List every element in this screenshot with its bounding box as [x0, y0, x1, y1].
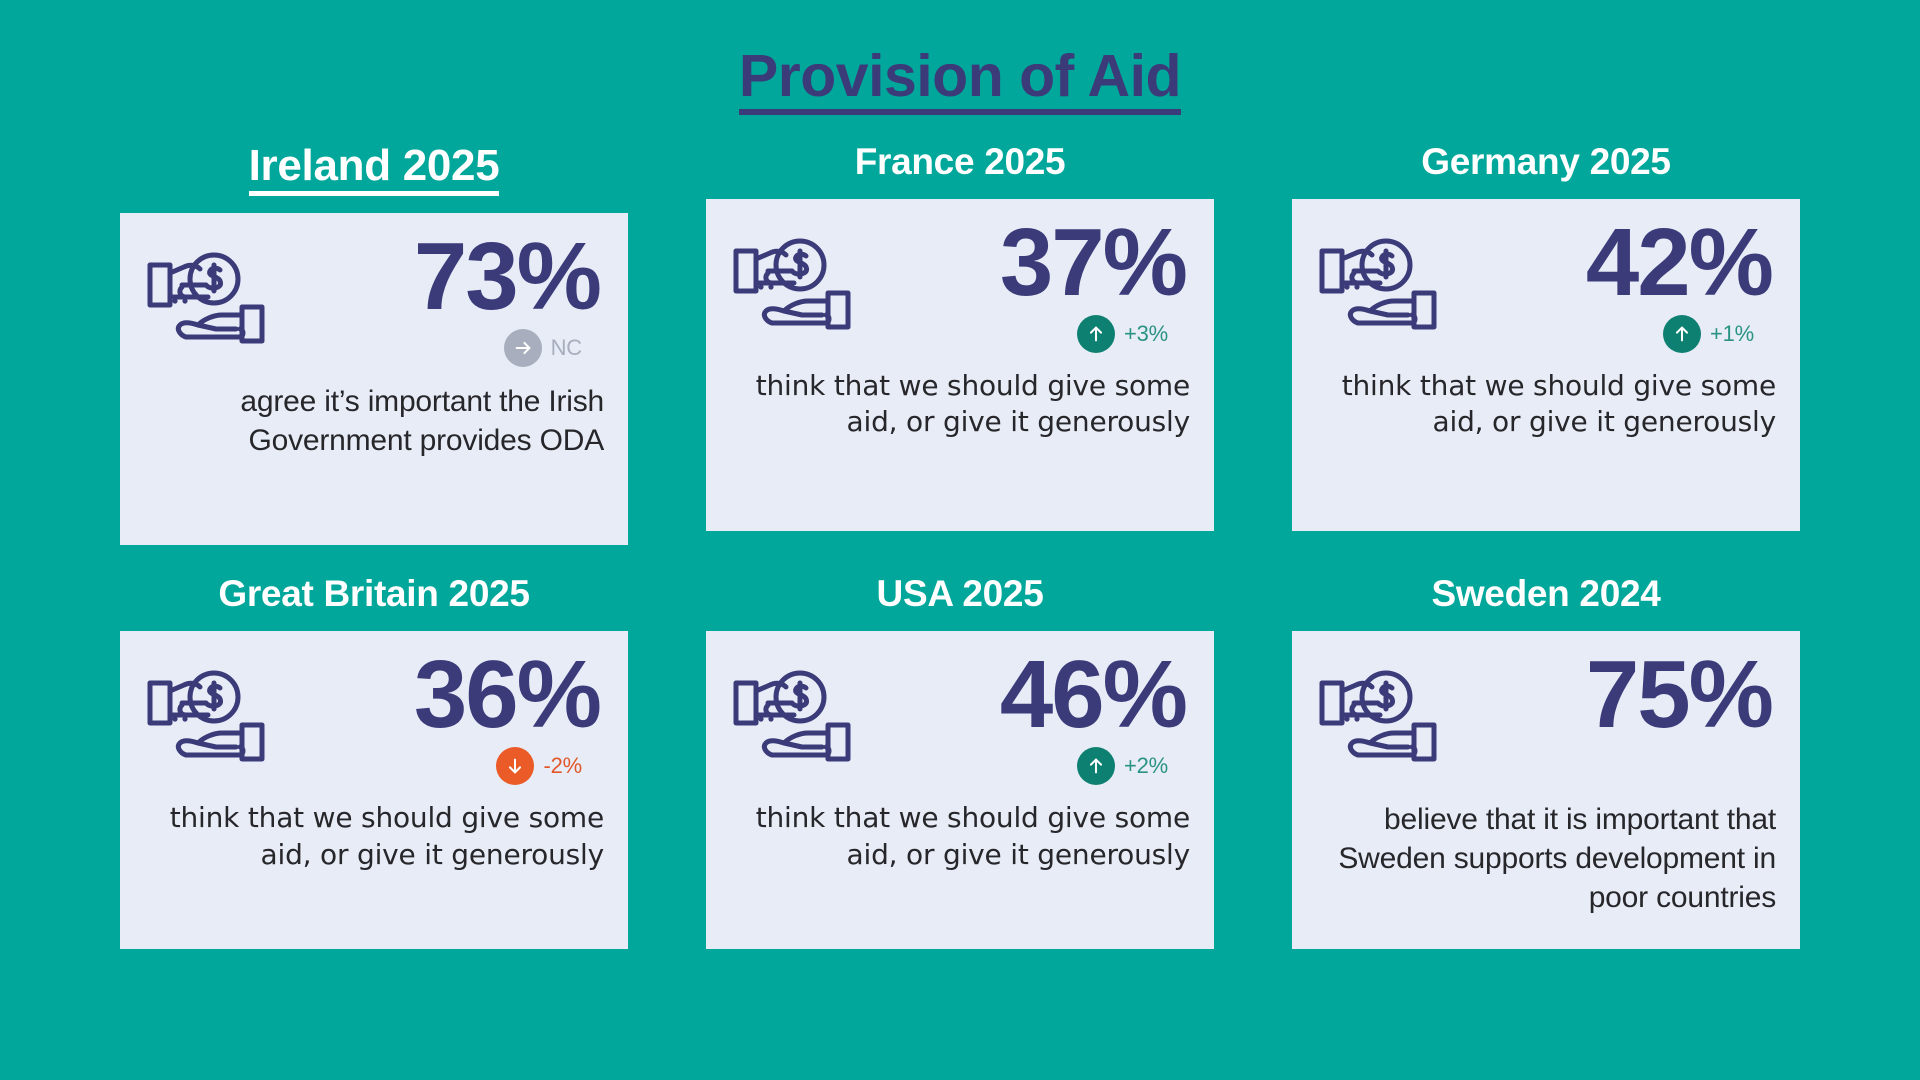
country-heading-text: Ireland 2025 [249, 143, 500, 196]
change-label: +1% [1710, 321, 1754, 347]
change-badge: NC [504, 328, 582, 368]
arrow-down-icon [496, 747, 534, 785]
country-cell: Great Britain 2025 [120, 575, 628, 949]
country-heading: France 2025 [706, 143, 1214, 182]
country-heading: Sweden 2024 [1292, 575, 1800, 614]
country-heading: Great Britain 2025 [120, 575, 628, 614]
country-heading: Ireland 2025 [120, 143, 628, 196]
stat-description: think that we should give some aid, or g… [144, 800, 604, 873]
country-heading: Germany 2025 [1292, 143, 1800, 182]
percentage-value: 73% [414, 231, 600, 322]
hand-giving-money-icon [1316, 659, 1448, 771]
arrow-up-icon [1663, 315, 1701, 353]
arrow-right-icon [504, 329, 542, 367]
percentage-value: 42% [1586, 217, 1772, 308]
country-heading-text: Germany 2025 [1421, 141, 1670, 182]
stat-card-top: 73% NC [144, 231, 604, 368]
change-badge: +3% [1077, 314, 1168, 354]
stat-description: think that we should give some aid, or g… [1316, 368, 1776, 441]
arrow-up-icon [1077, 315, 1115, 353]
country-cell: France 2025 [706, 143, 1214, 545]
figure-block: 36% -2% [282, 649, 604, 786]
country-heading: USA 2025 [706, 575, 1214, 614]
stat-card-top: 36% -2% [144, 649, 604, 786]
figure-block: 75% [1454, 649, 1776, 786]
change-badge: -2% [496, 746, 582, 786]
hand-giving-money-icon [730, 227, 862, 339]
hand-giving-money-icon [144, 659, 276, 771]
change-label: NC [551, 335, 582, 361]
figure-block: 73% NC [282, 231, 604, 368]
stat-card-top: 37% +3% [730, 217, 1190, 354]
country-cell: USA 2025 [706, 575, 1214, 949]
country-cell: Sweden 2024 [1292, 575, 1800, 949]
change-label: +2% [1124, 753, 1168, 779]
stat-card: 75% believe that it is important that Sw… [1292, 631, 1800, 949]
hand-giving-money-icon [144, 241, 276, 353]
hand-giving-money-icon [1316, 227, 1448, 339]
hand-giving-money-icon [730, 659, 862, 771]
country-heading-text: France 2025 [855, 141, 1066, 182]
stat-description: believe that it is important that Sweden… [1316, 800, 1776, 917]
stat-card-top: 42% +1% [1316, 217, 1776, 354]
stat-card: 42% +1% think that we should give some a… [1292, 199, 1800, 531]
stat-description: think that we should give some aid, or g… [730, 368, 1190, 441]
country-cell: Ireland 2025 [120, 143, 628, 545]
country-cell: Germany 2025 [1292, 143, 1800, 545]
percentage-value: 75% [1586, 649, 1772, 740]
stat-card: 73% NC agree it’s important the Irish Go… [120, 213, 628, 545]
change-badge: +1% [1663, 314, 1754, 354]
stat-description: agree it’s important the Irish Governmen… [144, 382, 604, 460]
stat-card: 46% +2% think that we should give some a… [706, 631, 1214, 949]
percentage-value: 46% [1000, 649, 1186, 740]
page-title-text: Provision of Aid [739, 47, 1181, 115]
figure-block: 37% +3% [868, 217, 1190, 354]
country-card-grid: Ireland 2025 [0, 115, 1920, 949]
country-heading-text: Great Britain 2025 [218, 573, 529, 614]
country-heading-text: USA 2025 [877, 573, 1044, 614]
stat-card: 36% -2% think that we should give some a… [120, 631, 628, 949]
page-title: Provision of Aid [0, 0, 1920, 115]
change-badge: +2% [1077, 746, 1168, 786]
stat-card-top: 46% +2% [730, 649, 1190, 786]
percentage-value: 37% [1000, 217, 1186, 308]
figure-block: 42% +1% [1454, 217, 1776, 354]
change-label: +3% [1124, 321, 1168, 347]
stat-card: 37% +3% think that we should give some a… [706, 199, 1214, 531]
stat-card-top: 75% [1316, 649, 1776, 786]
change-label: -2% [543, 753, 582, 779]
country-heading-text: Sweden 2024 [1431, 573, 1660, 614]
stat-description: think that we should give some aid, or g… [730, 800, 1190, 873]
figure-block: 46% +2% [868, 649, 1190, 786]
percentage-value: 36% [414, 649, 600, 740]
arrow-up-icon [1077, 747, 1115, 785]
